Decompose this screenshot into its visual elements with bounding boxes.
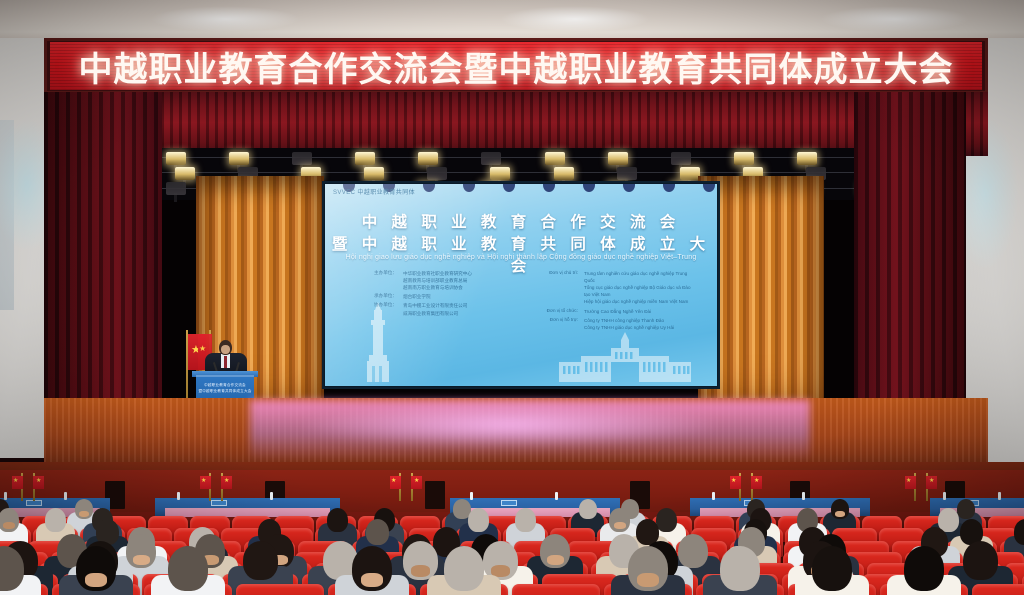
stage-lamp [427,167,447,180]
led-banner-text: 中越职业教育合作交流会暨中越职业教育共同体成立大会 [79,42,954,90]
screen-credits: 主办单位：中华职业教育社职业教育研究中心越南教育与培训部职业教育总局越南南方职业… [351,270,697,333]
table-nameplate [211,500,227,506]
audience-member-head [243,541,278,580]
water-bottle [470,492,473,500]
water-bottle [177,492,180,500]
star-icon: ★ [36,478,41,484]
audience-member-head [963,541,998,580]
water-bottle [943,492,946,500]
stage-lamp [671,152,691,165]
screen-credit-label: 协办单位： [351,302,397,316]
china-flag: ★ [730,476,741,489]
water-bottle [64,492,67,500]
audience-member-head [579,499,597,519]
audience-member-neck [79,511,89,517]
audience-member-head [327,508,348,532]
star-icon: ★ [929,478,934,484]
screen-subtitle-vietnamese: Hội nghị giao lưu giáo dục nghề nghiệp v… [325,254,717,261]
screen-credit-value: 青岛中稷工业设计有限责任公司威海职业教育集团有限公司 [403,302,467,316]
screen-credit-row: 承办单位：烟台职业学院 [351,293,516,300]
screen-credit-row: Đơn vị tổ chức:Trường Cao Đẳng Nghề Yên … [532,308,697,315]
podium-label-line2: 暨中越职业教育共同体成立大会 [196,389,254,395]
audience-member-neck [411,565,430,577]
star-icon: ★ [731,478,736,484]
screen-credit-value: 烟台职业学院 [403,293,431,300]
podium-label-line1: 中越职业教育合作交流会 [196,383,254,389]
audience-member-head [678,534,708,568]
audience-member-head [468,508,489,532]
screen-credit-row: Đơn vị hỗ trợ:Công ty TNHH công nghiệp T… [532,317,697,331]
speaker-tie [224,356,227,368]
stage-lamp [166,152,186,165]
vietnam-flag: ★ [751,476,762,489]
ceiling-light-glow [150,6,300,32]
ceiling-light-glow [820,6,970,32]
screen-decor-dot [663,184,675,192]
stage-lamp [545,152,565,165]
screen-credit-label: 主办单位： [351,270,397,291]
speaker-face [221,345,230,354]
side-curtain-right [854,92,966,444]
stage-lamp [175,167,195,180]
city-skyline-icon [551,332,699,382]
auditorium-scene: 中越职业教育合作交流会暨中越职业教育共同体成立大会 SVVEC 中越职业教育共同… [0,0,1024,595]
china-flag: ★ [905,476,916,489]
screen-title-line1: 中 越 职 业 教 育 合 作 交 流 会 [325,210,717,232]
screen-credit-row: Đơn vị chủ trì:Trung tâm nghiên cứu giáo… [532,270,697,306]
audience-member-head [957,499,975,519]
stage-lamp [355,152,375,165]
water-bottle [555,492,558,500]
screen-decor-dot [423,184,435,192]
stage-lamp [364,167,384,180]
star-icon: ★ [201,478,206,484]
stage-lamp [418,152,438,165]
screen-credits-left: 主办单位：中华职业教育社职业教育研究中心越南教育与培训部职业教育总局越南南方职业… [351,270,516,333]
audience-member-head [515,508,536,532]
stage-lamp [608,152,628,165]
curtain-valance [44,92,988,156]
stage-lamp [166,182,186,195]
stage-floor-light-hotspot [300,402,720,448]
screen-credit-row: 协办单位：青岛中稷工业设计有限责任公司威海职业教育集团有限公司 [351,302,516,316]
auditorium-seat [972,584,1024,595]
star-icon: ★ [391,478,396,484]
stage-lamp [292,152,312,165]
auditorium-seat [236,584,324,595]
audience-member-neck [361,573,383,587]
china-flag: ★ [390,476,401,489]
audience-member-neck [133,555,150,565]
screen-credits-right: Đơn vị chủ trì:Trung tâm nghiên cứu giáo… [532,270,697,333]
screen-decor-dot [543,184,555,192]
star-icon: ★ [199,343,206,354]
stage-lamp [734,152,754,165]
screen-credit-label: Đơn vị tổ chức: [532,308,578,315]
side-curtain-left [44,92,162,432]
screen-credit-label: Đơn vị chủ trì: [532,270,578,306]
water-bottle [998,492,1001,500]
screen-credit-label: Đơn vị hỗ trợ: [532,317,578,331]
water-bottle [712,492,715,500]
stage-lamp [617,167,637,180]
stage-lamp [229,152,249,165]
audience-member-head [904,546,944,591]
star-icon: ★ [224,478,229,484]
star-icon: ★ [906,478,911,484]
stage-lamp [797,152,817,165]
audience-member-head [45,508,66,532]
screen-credit-value: Trường Cao Đẳng Nghề Yên Đài [584,308,651,315]
presentation-screen: SVVEC 中越职业教育共同体 中 越 职 业 教 育 合 作 交 流 会 暨 … [325,184,717,386]
screen-decor-dot [703,184,715,192]
stage-lamp [481,152,501,165]
audience-member-head [168,546,208,591]
screen-decor-dot [463,184,475,192]
ceiling-light-glow [500,6,650,32]
screen-decor-dot [623,184,635,192]
table-nameplate [501,500,517,506]
audience-member-head [444,546,484,591]
wall-speaker [425,481,445,509]
vietnam-flag: ★ [411,476,422,489]
stage-lamp [554,167,574,180]
screen-decor-dot [583,184,595,192]
star-icon: ★ [754,478,759,484]
stage-lamp [680,167,700,180]
star-icon: ★ [13,478,18,484]
audience-member-neck [3,522,15,529]
audience-member-neck [637,573,659,587]
audience-member-neck [835,511,845,517]
audience-member-neck [547,555,564,565]
audience-member-neck [614,522,626,529]
audience-member-head [720,546,760,591]
screen-credit-value: Trung tâm nghiên cứu giáo dục nghề nghiệ… [584,270,697,306]
vietnam-flag: ★ [221,476,232,489]
china-flag: ★ [200,476,211,489]
vietnam-flag: ★ [33,476,44,489]
screen-credit-value: 中华职业教育社职业教育研究中心越南教育与培训部职业教育总局越南南方职业教育与培训… [403,270,472,291]
audience-member-head [656,508,677,532]
screen-credit-label: 承办单位： [351,293,397,300]
china-flag: ★ [12,476,23,489]
led-banner: 中越职业教育合作交流会暨中越职业教育共同体成立大会 [50,42,982,90]
screen-credit-row: 主办单位：中华职业教育社职业教育研究中心越南教育与培训部职业教育总局越南南方职业… [351,270,516,291]
audience-member-head [812,546,852,591]
water-bottle [802,492,805,500]
screen-decor-dot [503,184,515,192]
water-bottle [4,492,7,500]
auditorium-seat [512,584,600,595]
audience-member-neck [85,573,107,587]
screen-logo-text: SVVEC 中越职业教育共同体 [333,187,415,196]
star-icon: ★ [414,478,419,484]
water-bottle [270,492,273,500]
stage-lamp [490,167,510,180]
screen-credit-value: Công ty TNHH công nghiệp Thanh ĐảoCông t… [584,317,674,331]
audience-member-head [366,519,389,545]
vietnam-flag: ★ [926,476,937,489]
